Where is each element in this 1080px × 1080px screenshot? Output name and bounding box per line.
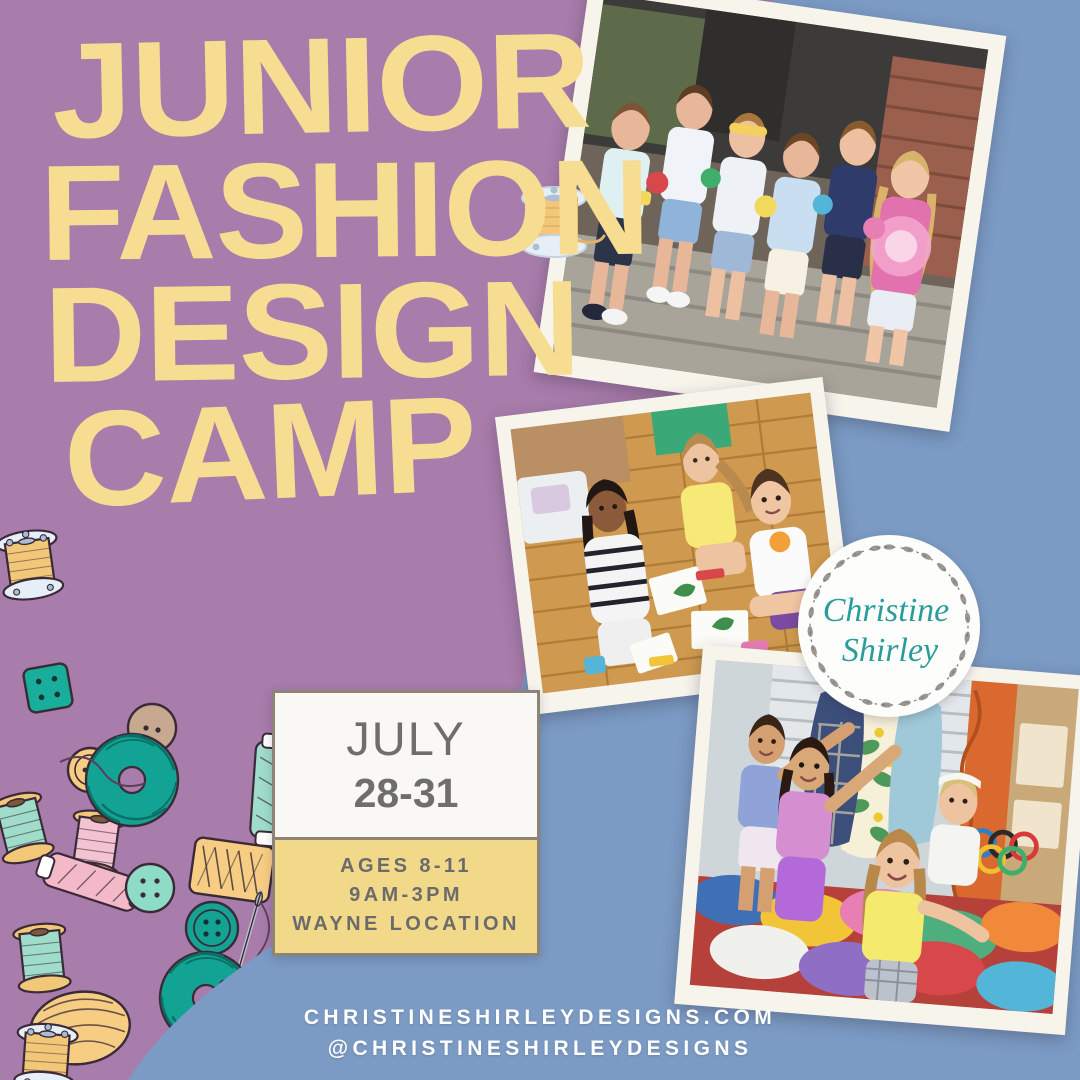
logo-line-1: Christine bbox=[823, 592, 950, 629]
camp-ages: AGES 8-11 bbox=[281, 852, 531, 881]
footer-website[interactable]: CHRISTINESHIRLEYDESIGNS.COM bbox=[0, 1003, 1080, 1033]
bobbin-decoration-icon bbox=[494, 162, 614, 282]
logo-line-2: Shirley bbox=[842, 632, 939, 669]
photo-group-on-steps-image bbox=[553, 0, 989, 408]
christine-shirley-logo-badge: Christine Shirley bbox=[798, 535, 980, 717]
camp-time: 9AM-3PM bbox=[281, 881, 531, 910]
camp-dates: 28-31 bbox=[285, 768, 527, 819]
footer-contact: CHRISTINESHIRLEYDESIGNS.COM @CHRISTINESH… bbox=[0, 1003, 1080, 1064]
camp-month: JULY bbox=[285, 715, 527, 762]
camp-details-card: JULY 28-31 AGES 8-11 9AM-3PM WAYNE LOCAT… bbox=[272, 690, 540, 956]
photo-girls-on-studio-floor-image bbox=[511, 393, 843, 694]
camp-location: WAYNE LOCATION bbox=[281, 910, 531, 939]
poster-canvas: JUNIOR FASHION DESIGN CAMP bbox=[0, 0, 1080, 1080]
camp-date-section: JULY 28-31 bbox=[275, 693, 537, 837]
footer-instagram-handle[interactable]: @CHRISTINESHIRLEYDESIGNS bbox=[0, 1034, 1080, 1064]
camp-info-section: AGES 8-11 9AM-3PM WAYNE LOCATION bbox=[275, 837, 537, 953]
